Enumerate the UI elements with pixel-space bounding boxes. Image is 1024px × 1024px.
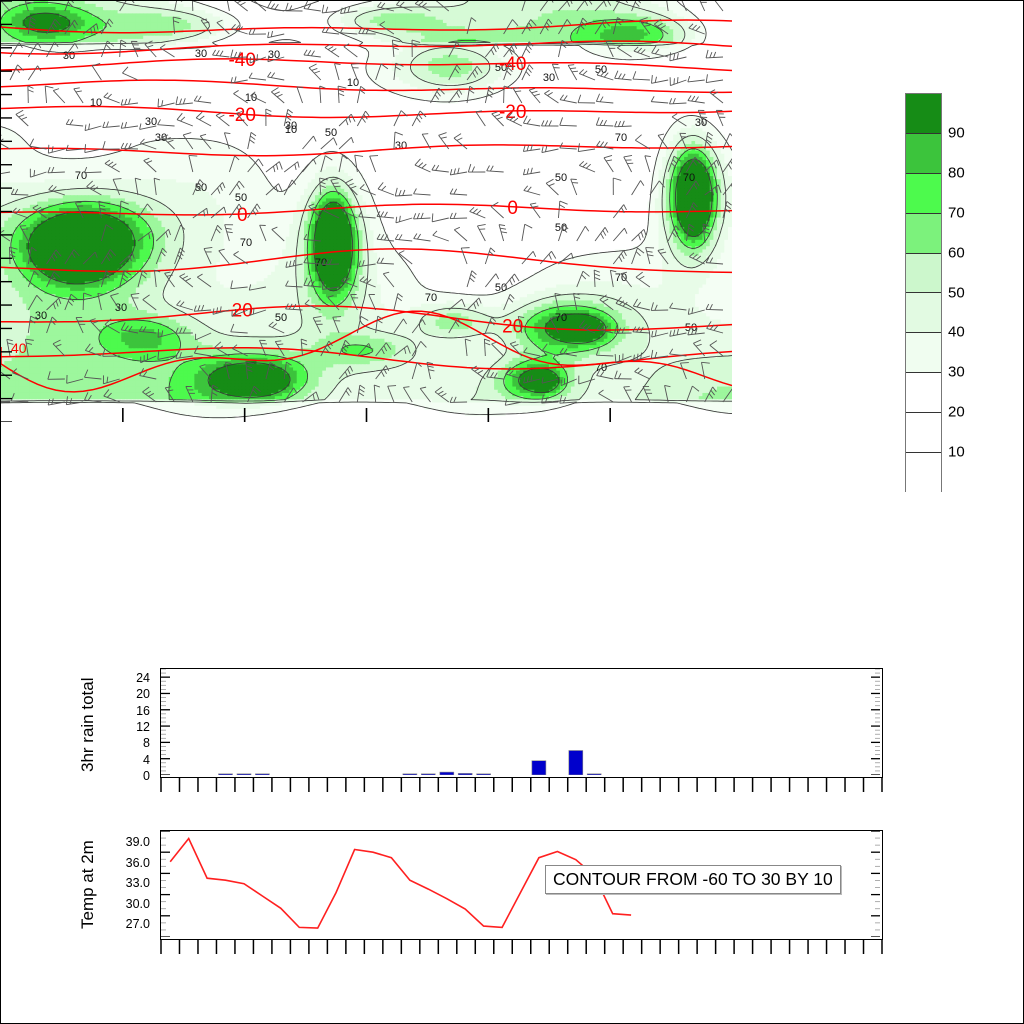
colorbar-band [906, 333, 941, 373]
rh-contour-label: 70 [75, 170, 87, 182]
temp-tick-label: 33.0 [126, 876, 150, 890]
temp-axis-labels: 39.036.033.030.027.0 [94, 830, 150, 940]
rh-contour-label: 10 [285, 124, 297, 136]
colorbar-tick-label: 10 [948, 444, 965, 461]
rh-contour-label: 50 [275, 312, 287, 324]
rain-bar [237, 774, 251, 775]
temp-contour-label: 0 [507, 198, 518, 219]
colorbar-tick-label: 50 [948, 284, 965, 301]
colorbar-tick-label: 90 [948, 124, 965, 141]
rain-tick-label: 4 [143, 753, 150, 767]
rh-contour-label: 70 [425, 292, 437, 304]
rain-bar [255, 774, 269, 775]
temp-contour-label: -40 [499, 54, 526, 75]
rh-contour-label: 30 [195, 48, 207, 60]
temp-contour-label: -20 [228, 105, 255, 126]
rain-tick-label: 8 [143, 736, 150, 750]
cross-section-plot: 3030303030301010101050305070505050305070… [1, 1, 732, 422]
rh-contour-label: 70 [683, 172, 695, 184]
rain-bar [587, 774, 601, 775]
rain-bar [477, 774, 491, 775]
rain-bar [458, 773, 472, 775]
temp-contour-label: 20 [502, 316, 523, 337]
rh-contour-label: 30 [115, 302, 127, 314]
temp-contour-label: 20 [232, 300, 253, 321]
rh-contour-label: 30 [543, 72, 555, 84]
rain-bar [219, 774, 233, 775]
rh-contour-label: 70 [615, 132, 627, 144]
colorbar-band [906, 254, 941, 294]
colorbar-band [906, 94, 941, 134]
rain-bar [403, 774, 417, 775]
rain-tick-label: 16 [136, 704, 150, 718]
rh-contour-label: 50 [195, 182, 207, 194]
rh-contour-label: 70 [315, 257, 327, 269]
rain-tick-label: 24 [136, 671, 150, 685]
rh-contour-label: 50 [325, 127, 337, 139]
temp-contour-label: -20 [499, 102, 526, 123]
rh-contour-label: 30 [35, 310, 47, 322]
rh-contour-label: 70 [240, 237, 252, 249]
rain-axis-labels: 24201612840 [98, 668, 150, 778]
temp-tick-label: 36.0 [126, 856, 150, 870]
colorbar-tick-label: 80 [948, 164, 965, 181]
temp-contour-label: -40 [228, 50, 255, 71]
temp-tick-label: 30.0 [126, 897, 150, 911]
rain-tick-label: 20 [136, 687, 150, 701]
rh-contour-label: 30 [695, 117, 707, 129]
rh-contour-label: 30 [395, 140, 407, 152]
colorbar-band [906, 134, 941, 174]
rh-contour-label: 30 [155, 132, 167, 144]
rain-bar-chart [161, 669, 880, 775]
colorbar-tick-label: 60 [948, 244, 965, 261]
temp-tick-label: 39.0 [126, 835, 150, 849]
rain-bar [569, 751, 583, 776]
colorbar-band [906, 413, 941, 453]
contour-annotation: CONTOUR FROM -60 TO 30 BY 10 [545, 865, 841, 894]
rain-chart-panel [160, 668, 883, 778]
colorbar-tick-label: 30 [948, 364, 965, 381]
cross-section-panel: 3030303030301010101050305070505050305070… [0, 0, 731, 421]
rh-contour-label: 50 [555, 172, 567, 184]
rain-tick-label: 12 [136, 720, 150, 734]
rh-contour-label: 70 [555, 312, 567, 324]
rain-bar [532, 761, 546, 775]
temp-tick-label: 27.0 [126, 917, 150, 931]
rain-bar [440, 772, 454, 775]
colorbar-band [906, 453, 941, 493]
temp-contour-label: 0 [237, 205, 248, 226]
rh-contour-label: 50 [235, 192, 247, 204]
colorbar-tick-label: 20 [948, 404, 965, 421]
colorbar-band [906, 214, 941, 254]
rain-tick-label: 0 [143, 769, 150, 783]
colorbar-labels: 908070605040302010 [948, 93, 998, 492]
rh-contour-label: 50 [685, 322, 697, 334]
temp-contour-label: 40 [11, 340, 27, 356]
colorbar-band [906, 174, 941, 214]
colorbar-tick-label: 40 [948, 324, 965, 341]
colorbar-band [906, 293, 941, 333]
colorbar-tick-label: 70 [948, 204, 965, 221]
colorbar-band [906, 373, 941, 413]
rain-bar [421, 774, 435, 775]
colorbar [905, 93, 942, 492]
rh-contour-label: 50 [495, 282, 507, 294]
